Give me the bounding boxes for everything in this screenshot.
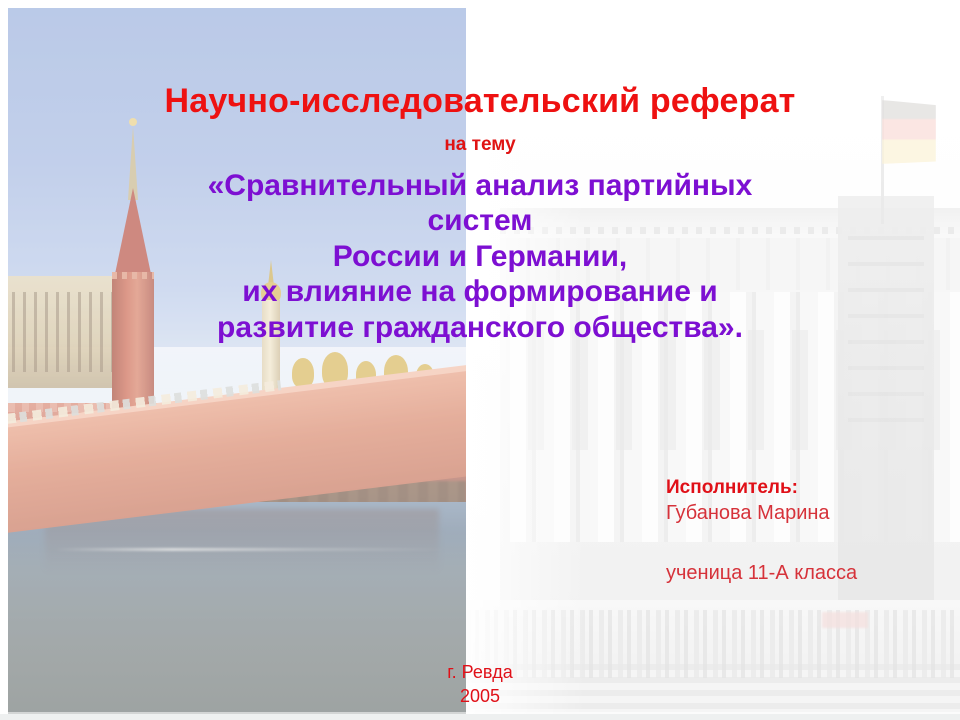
research-topic: «Сравнительный анализ партийных систем Р… — [60, 168, 900, 345]
topic-line-4: их влияние на формирование и — [60, 274, 900, 309]
author-class: ученица 11-А класса — [666, 560, 946, 586]
slide-frame-bottom — [0, 714, 960, 720]
slide-title: Научно-исследовательский реферат — [0, 82, 960, 121]
author-name: Губанова Марина — [666, 500, 946, 526]
author-block: Исполнитель: Губанова Марина ученица 11-… — [666, 476, 946, 586]
topic-line-1: «Сравнительный анализ партийных — [60, 168, 900, 203]
topic-line-2: систем — [60, 203, 900, 238]
presentation-slide: Научно-исследовательский реферат на тему… — [0, 0, 960, 720]
year-label: 2005 — [0, 684, 960, 708]
topic-line-3: России и Германии, — [60, 239, 900, 274]
author-label: Исполнитель: — [666, 476, 946, 500]
slide-frame-bottom-highlight — [0, 712, 960, 714]
city-label: г. Ревда — [0, 660, 960, 684]
slide-subtitle: на тему — [0, 134, 960, 156]
slide-frame-top — [0, 0, 960, 8]
place-and-year: г. Ревда 2005 — [0, 660, 960, 709]
topic-line-5: развитие гражданского общества». — [60, 310, 900, 345]
